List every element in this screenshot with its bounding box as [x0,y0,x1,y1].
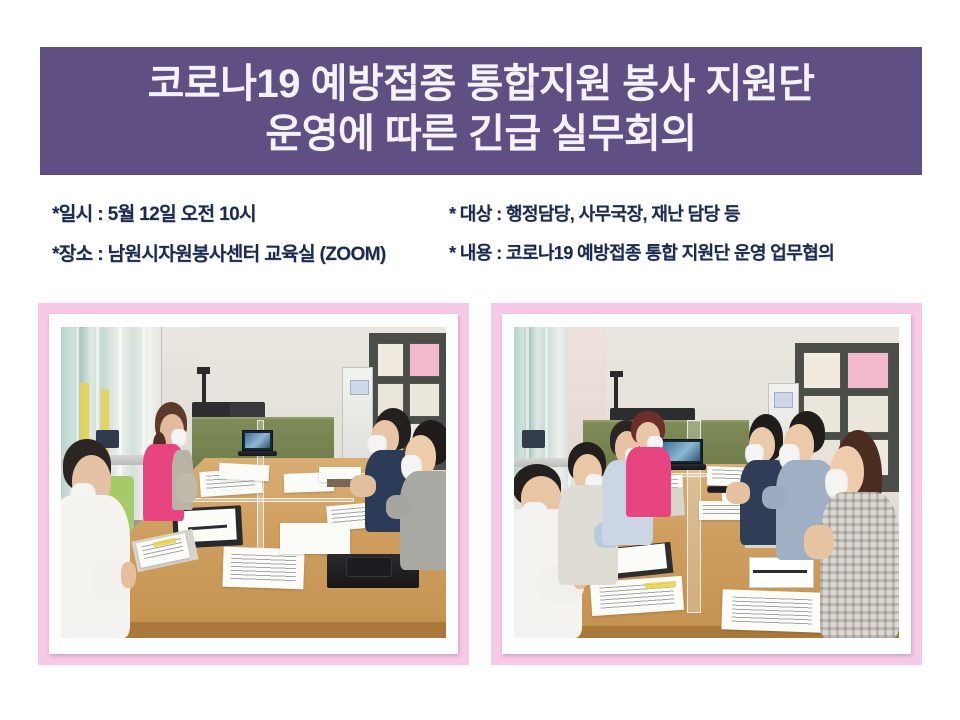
photo-mat-left [49,314,458,654]
photo-card-right [491,303,922,665]
meeting-info-block: *일시 : 5월 12일 오전 10시 *장소 : 남원시자원봉사센터 교육실 … [0,205,960,290]
photo-card-left [38,303,469,665]
meeting-photo-right [514,327,899,638]
photo-row [38,303,922,665]
presentation-slide: 코로나19 예방접종 통합지원 봉사 지원단 운영에 따른 긴급 실무회의 *일… [0,0,960,720]
info-location: *장소 : 남원시자원봉사센터 교육실 (ZOOM) [52,245,386,264]
title-line-1: 코로나19 예방접종 통합지원 봉사 지원단 [148,59,815,109]
title-line-2: 운영에 따른 긴급 실무회의 [265,109,696,159]
meeting-photo-left [61,327,446,638]
info-column-left: *일시 : 5월 12일 오전 10시 *장소 : 남원시자원봉사센터 교육실 … [52,205,386,264]
title-banner: 코로나19 예방접종 통합지원 봉사 지원단 운영에 따른 긴급 실무회의 [40,47,922,175]
info-attendees: * 대상 : 행정담당, 사무국장, 재난 담당 등 [449,205,834,223]
photo-mat-right [502,314,911,654]
info-agenda: * 내용 : 코로나19 예방접종 통합 지원단 운영 업무협의 [449,244,834,262]
info-datetime: *일시 : 5월 12일 오전 10시 [52,205,386,224]
info-column-right: * 대상 : 행정담당, 사무국장, 재난 담당 등 * 내용 : 코로나19 … [449,205,834,262]
